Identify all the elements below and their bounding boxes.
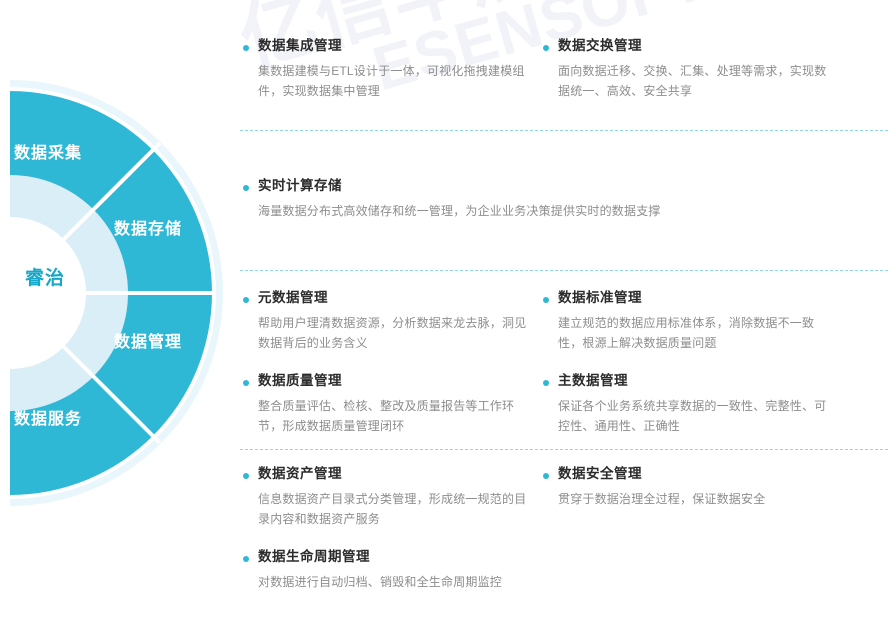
- bullet-dot-icon: [243, 297, 249, 303]
- feature-item[interactable]: 数据质量管理 整合质量评估、检核、整改及质量报告等工作环节，形成数据质量管理闭环: [240, 373, 540, 436]
- segment-label-data-storage[interactable]: 数据存储: [114, 215, 182, 239]
- section-divider: [240, 130, 888, 131]
- feature-item[interactable]: 主数据管理 保证各个业务系统共享数据的一致性、完整性、可控性、通用性、正确性: [540, 373, 840, 436]
- section-3-left-column: 元数据管理 帮助用户理清数据资源，分析数据来龙去脉，洞见数据背后的业务含义 数据…: [240, 290, 540, 436]
- section-divider: [240, 449, 888, 450]
- feature-item[interactable]: 数据集成管理 集数据建模与ETL设计于一体，可视化拖拽建模组件，实现数据集中管理: [240, 38, 540, 101]
- section-1-left-column: 数据集成管理 集数据建模与ETL设计于一体，可视化拖拽建模组件，实现数据集中管理: [240, 38, 540, 101]
- feature-title: 实时计算存储: [258, 178, 880, 194]
- half-donut-diagram: 数据采集 数据存储 数据管理 数据服务 睿治: [0, 0, 230, 627]
- feature-title: 数据标准管理: [558, 290, 840, 306]
- feature-sections: 数据集成管理 集数据建模与ETL设计于一体，可视化拖拽建模组件，实现数据集中管理…: [240, 0, 896, 627]
- section-1-right-column: 数据交换管理 面向数据迁移、交换、汇集、处理等需求，实现数据统一、高效、安全共享: [540, 38, 840, 101]
- bullet-dot-icon: [243, 45, 249, 51]
- feature-description: 海量数据分布式高效储存和统一管理，为企业业务决策提供实时的数据支撑: [258, 201, 858, 221]
- section-divider: [240, 270, 888, 271]
- feature-item[interactable]: 数据资产管理 信息数据资产目录式分类管理，形成统一规范的目录内容和数据资产服务: [240, 466, 540, 529]
- bullet-dot-icon: [243, 380, 249, 386]
- feature-description: 集数据建模与ETL设计于一体，可视化拖拽建模组件，实现数据集中管理: [258, 61, 536, 101]
- feature-description: 建立规范的数据应用标准体系，消除数据不一致性，根源上解决数据质量问题: [558, 313, 836, 353]
- feature-description: 贯穿于数据治理全过程，保证数据安全: [558, 489, 836, 509]
- feature-item[interactable]: 数据安全管理 贯穿于数据治理全过程，保证数据安全: [540, 466, 840, 509]
- feature-title: 数据资产管理: [258, 466, 540, 482]
- section-4-left-column: 数据资产管理 信息数据资产目录式分类管理，形成统一规范的目录内容和数据资产服务 …: [240, 466, 540, 592]
- feature-item[interactable]: 实时计算存储 海量数据分布式高效储存和统一管理，为企业业务决策提供实时的数据支撑: [240, 178, 880, 221]
- section-4-right-column: 数据安全管理 贯穿于数据治理全过程，保证数据安全: [540, 466, 840, 509]
- bullet-dot-icon: [543, 380, 549, 386]
- bullet-dot-icon: [543, 45, 549, 51]
- feature-title: 数据安全管理: [558, 466, 840, 482]
- feature-item[interactable]: 数据标准管理 建立规范的数据应用标准体系，消除数据不一致性，根源上解决数据质量问…: [540, 290, 840, 353]
- feature-description: 整合质量评估、检核、整改及质量报告等工作环节，形成数据质量管理闭环: [258, 396, 536, 436]
- bullet-dot-icon: [543, 473, 549, 479]
- feature-title: 数据生命周期管理: [258, 549, 540, 565]
- feature-title: 数据交换管理: [558, 38, 840, 54]
- feature-description: 信息数据资产目录式分类管理，形成统一规范的目录内容和数据资产服务: [258, 489, 536, 529]
- bullet-dot-icon: [243, 185, 249, 191]
- feature-item[interactable]: 数据交换管理 面向数据迁移、交换、汇集、处理等需求，实现数据统一、高效、安全共享: [540, 38, 840, 101]
- section-3-right-column: 数据标准管理 建立规范的数据应用标准体系，消除数据不一致性，根源上解决数据质量问…: [540, 290, 840, 436]
- bullet-dot-icon: [243, 473, 249, 479]
- feature-item[interactable]: 数据生命周期管理 对数据进行自动归档、销毁和全生命周期监控: [240, 549, 540, 592]
- feature-title: 主数据管理: [558, 373, 840, 389]
- diagram-svg: [0, 0, 230, 627]
- feature-description: 保证各个业务系统共享数据的一致性、完整性、可控性、通用性、正确性: [558, 396, 836, 436]
- feature-item[interactable]: 元数据管理 帮助用户理清数据资源，分析数据来龙去脉，洞见数据背后的业务含义: [240, 290, 540, 353]
- feature-description: 帮助用户理清数据资源，分析数据来龙去脉，洞见数据背后的业务含义: [258, 313, 536, 353]
- bullet-dot-icon: [243, 556, 249, 562]
- feature-title: 数据集成管理: [258, 38, 540, 54]
- feature-description: 面向数据迁移、交换、汇集、处理等需求，实现数据统一、高效、安全共享: [558, 61, 836, 101]
- diagram-center-label: 睿治: [22, 265, 68, 292]
- segment-label-data-management[interactable]: 数据管理: [114, 328, 182, 352]
- section-2-left-column: 实时计算存储 海量数据分布式高效储存和统一管理，为企业业务决策提供实时的数据支撑: [240, 178, 880, 221]
- segment-label-data-service[interactable]: 数据服务: [14, 405, 82, 429]
- segment-label-data-collection[interactable]: 数据采集: [14, 139, 82, 163]
- bullet-dot-icon: [543, 297, 549, 303]
- feature-description: 对数据进行自动归档、销毁和全生命周期监控: [258, 572, 568, 592]
- feature-title: 元数据管理: [258, 290, 540, 306]
- feature-title: 数据质量管理: [258, 373, 540, 389]
